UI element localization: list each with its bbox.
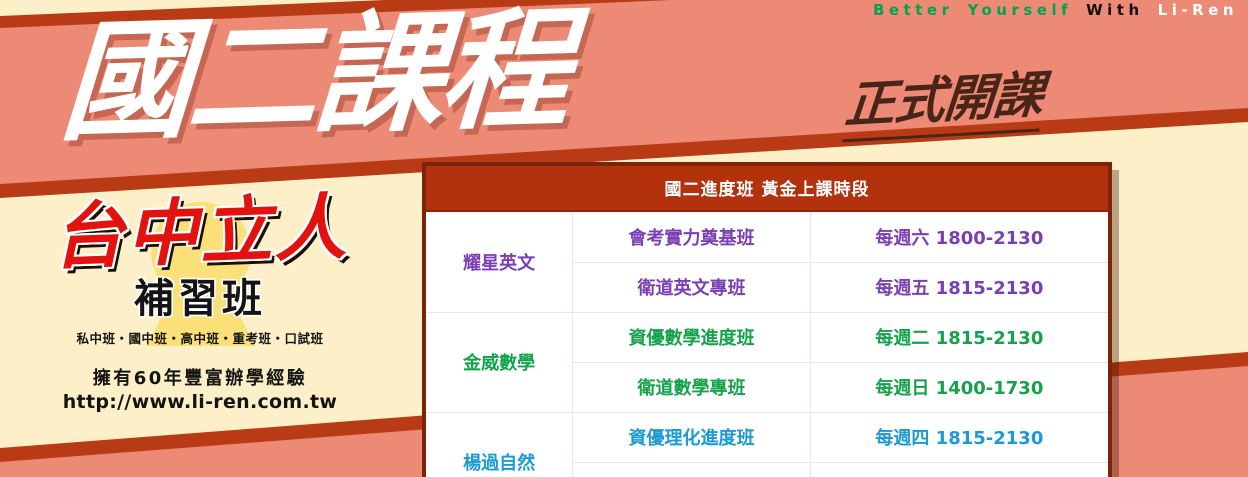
table-cell-time: 每週五 1815-2130 — [810, 262, 1108, 312]
table-cell-time: 每週六 1800-2130 — [810, 212, 1108, 262]
tagline-word-better: Better — [873, 1, 954, 19]
table-cell-time: 每週二 1815-2130 — [810, 312, 1108, 362]
table-cell-course: 會考實力奠基班 — [573, 212, 810, 262]
table-row: 耀星英文會考實力奠基班每週六 1800-2130 — [426, 212, 1108, 262]
logo-website-url[interactable]: http://www.li-ren.com.tw — [0, 391, 400, 413]
table-cell-course: 衛道英文專班 — [573, 262, 810, 312]
table-cell-time: 每週日 1400-1730 — [810, 362, 1108, 412]
table-cell-subject: 楊過自然 — [426, 412, 573, 477]
table-cell-subject: 耀星英文 — [426, 212, 573, 312]
table-cell-course: 資優數學進度班 — [573, 312, 810, 362]
table-row: 楊過自然資優理化進度班每週四 1815-2130 — [426, 412, 1108, 462]
logo-name: 台中立人 — [0, 189, 401, 275]
table-cell-course: 衛道數學專班 — [573, 362, 810, 412]
schedule-table-container: 國二進度班 黃金上課時段 耀星英文會考實力奠基班每週六 1800-2130衛道英… — [422, 162, 1112, 477]
logo-type: 補習班 — [0, 266, 400, 324]
table-cell-time: 每週四 1815-2130 — [810, 412, 1108, 462]
table-row: 金威數學資優數學進度班每週二 1815-2130 — [426, 312, 1108, 362]
table-cell-subject: 金威數學 — [426, 312, 573, 412]
schedule-table: 耀星英文會考實力奠基班每週六 1800-2130衛道英文專班每週五 1815-2… — [426, 212, 1108, 477]
promo-banner: BetterYourselfWithLi-Ren 國二課程 正式開課 台中立人 … — [0, 0, 1248, 477]
logo-experience: 擁有60年豐富辦學經驗 — [0, 364, 400, 390]
table-cell-time: 每週日 0900-1230 — [810, 462, 1108, 477]
page-title: 國二課程 — [57, 1, 570, 152]
table-cell-course: 衛道自然專班 — [573, 462, 810, 477]
logo: 台中立人 補習班 私中班・國中班・高中班・重考班・口試班 擁有60年豐富辦學經驗… — [0, 196, 400, 413]
table-cell-course: 資優理化進度班 — [573, 412, 810, 462]
logo-class-list: 私中班・國中班・高中班・重考班・口試班 — [0, 328, 400, 347]
subtitle-open-course: 正式開課 — [842, 55, 1046, 143]
schedule-table-title: 國二進度班 黃金上課時段 — [426, 166, 1108, 212]
tagline-word-liren: Li-Ren — [1158, 1, 1238, 19]
tagline-word-with: With — [1086, 1, 1144, 19]
tagline-word-yourself: Yourself — [967, 1, 1072, 19]
